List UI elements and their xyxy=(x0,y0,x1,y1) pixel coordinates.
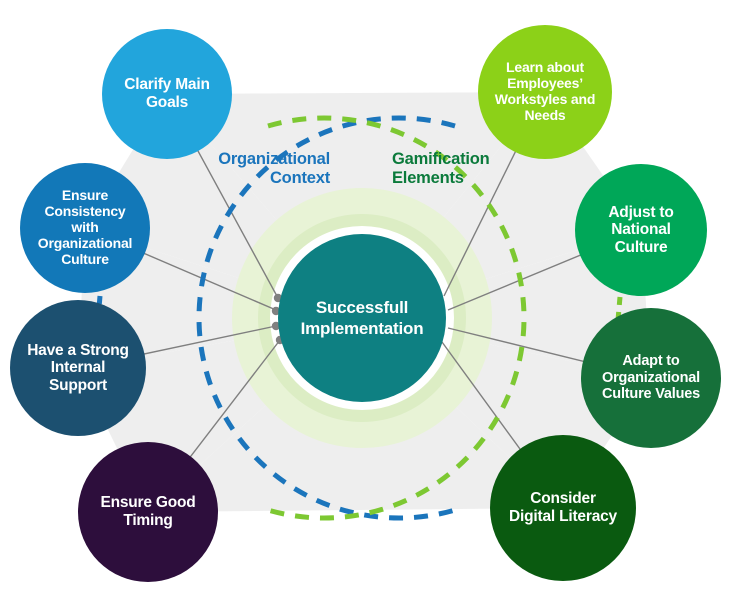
node-label: Adjust to National Culture xyxy=(602,204,679,257)
node-label: Have a Strong Internal Support xyxy=(21,342,135,395)
node-clarify-main-goals[interactable]: Clarify Main Goals xyxy=(102,29,232,159)
group-label-organizational-context: Organizational Context xyxy=(180,150,330,189)
diagram-canvas: Organizational Context Gamification Elem… xyxy=(0,0,730,593)
node-ensure-consistency-with-organizational-culture[interactable]: Ensure Consistency with Organizational C… xyxy=(20,163,150,293)
node-label: Consider Digital Literacy xyxy=(503,490,623,525)
node-adjust-to-national-culture[interactable]: Adjust to National Culture xyxy=(575,164,707,296)
node-label: Adapt to Organizational Culture Values xyxy=(596,353,706,403)
node-label: Ensure Consistency with Organizational C… xyxy=(32,188,138,268)
node-consider-digital-literacy[interactable]: Consider Digital Literacy xyxy=(490,435,636,581)
node-label: Ensure Good Timing xyxy=(94,494,201,529)
node-label: Clarify Main Goals xyxy=(118,76,215,111)
node-learn-about-employees-workstyles-and-needs[interactable]: Learn about Employees’ Workstyles and Ne… xyxy=(478,25,612,159)
center-label-wrapper: Successfull Implementation xyxy=(278,234,446,402)
node-adapt-to-organizational-culture-values[interactable]: Adapt to Organizational Culture Values xyxy=(581,308,721,448)
node-have-a-strong-internal-support[interactable]: Have a Strong Internal Support xyxy=(10,300,146,436)
node-label: Learn about Employees’ Workstyles and Ne… xyxy=(489,60,601,124)
node-ensure-good-timing[interactable]: Ensure Good Timing xyxy=(78,442,218,582)
center-label: Successfull Implementation xyxy=(295,297,430,340)
